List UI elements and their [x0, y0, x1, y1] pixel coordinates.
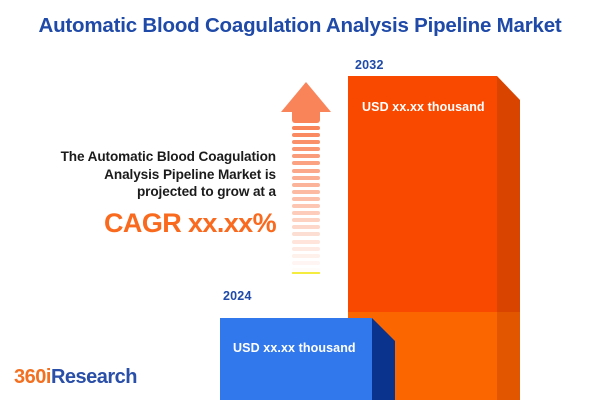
cagr-value: CAGR xx.xx% [18, 208, 276, 238]
base-year-bar: USD xx.xx thousand [220, 318, 395, 400]
base-bar-front-face [220, 318, 372, 400]
arrow-stripe [292, 140, 320, 144]
statement-line-1: The Automatic Blood Coagulation [18, 148, 276, 166]
arrow-stripe [292, 176, 320, 180]
logo-text-research: Research [51, 366, 137, 388]
arrow-stripe [292, 147, 320, 151]
forecast-bar-value-label: USD xx.xx thousand [362, 100, 485, 114]
up-arrow-growth-icon [281, 82, 331, 282]
arrow-stripe [292, 218, 320, 222]
forecast-bar-side-lower [497, 312, 520, 400]
statement-line-2: Analysis Pipeline Market is [18, 166, 276, 184]
growth-statement: The Automatic Blood Coagulation Analysis… [18, 148, 276, 238]
arrow-stripe [292, 190, 320, 194]
arrow-head-icon [281, 82, 331, 112]
arrow-stripe [292, 247, 320, 251]
brand-logo[interactable]: 360iResearch [14, 366, 137, 389]
logo-text-360: 360 [14, 366, 46, 388]
arrow-highlight-line [292, 272, 320, 274]
page-title: Automatic Blood Coagulation Analysis Pip… [0, 14, 600, 38]
market-infographic: Automatic Blood Coagulation Analysis Pip… [0, 0, 600, 400]
arrow-stripe [292, 261, 320, 265]
arrow-stripe [292, 225, 320, 229]
arrow-neck [292, 111, 320, 123]
arrow-stripe [292, 169, 320, 173]
arrow-shaft [292, 126, 320, 282]
arrow-stripe [292, 211, 320, 215]
arrow-stripe [292, 232, 320, 236]
statement-line-3: projected to grow at a [18, 183, 276, 201]
arrow-stripe [292, 161, 320, 165]
arrow-stripe [292, 254, 320, 258]
base-bar-value-label: USD xx.xx thousand [233, 341, 356, 355]
arrow-stripe [292, 183, 320, 187]
arrow-stripe [292, 197, 320, 201]
arrow-stripe [292, 204, 320, 208]
forecast-year-label: 2032 [355, 58, 384, 72]
arrow-stripe [292, 133, 320, 137]
arrow-stripe [292, 240, 320, 244]
base-year-label: 2024 [223, 289, 252, 303]
arrow-stripe [292, 126, 320, 130]
arrow-stripe [292, 154, 320, 158]
